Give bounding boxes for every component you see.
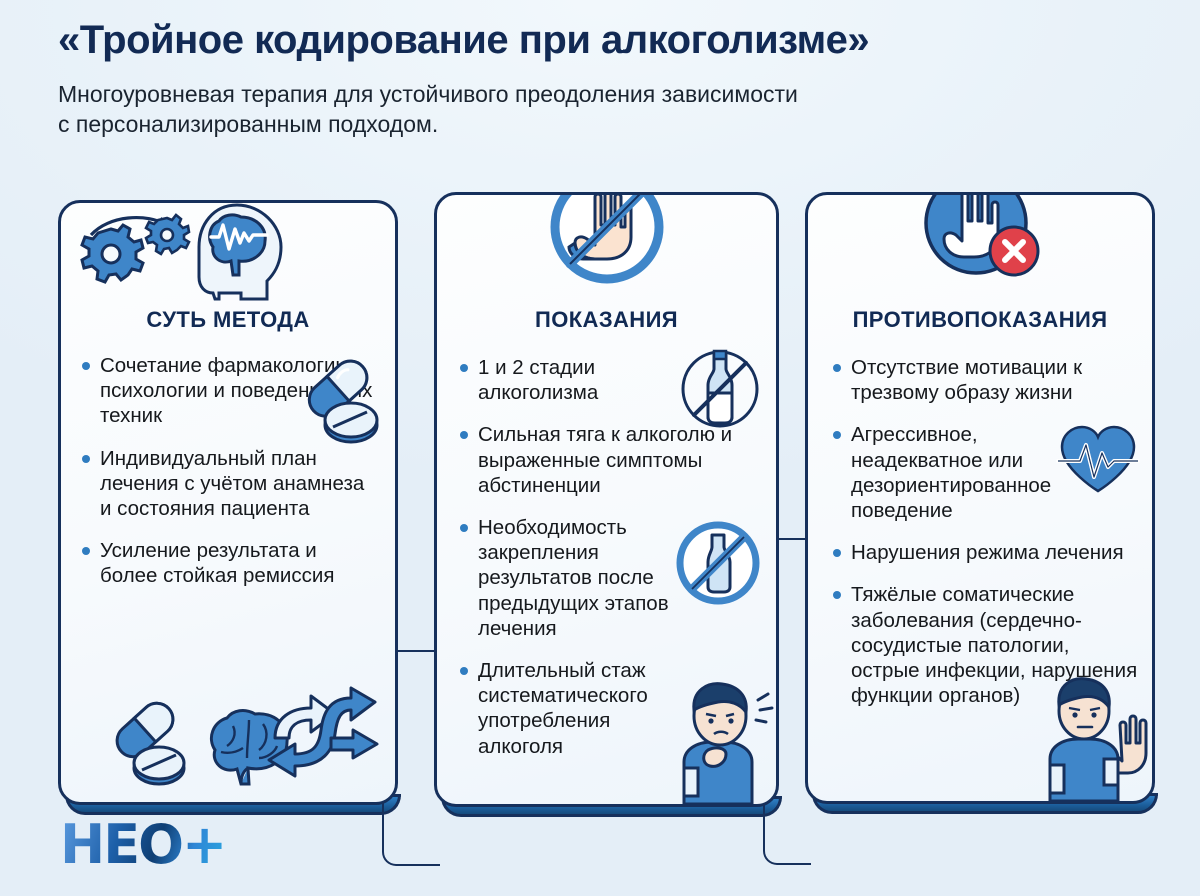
list-item: Агрессивное, неадекватное или дезориенти… [830,422,1076,523]
brand-logo-text: НЕО+ [60,818,225,872]
card-protivopokazaniya[interactable]: ПРОТИВОПОКАЗАНИЯ Отсутствие мотивации к … [805,192,1155,804]
no-alcohol-icon [672,517,764,609]
list-item: Отсутствие мотивации к трезвому образу ж… [830,355,1138,405]
no-bottle-icon [674,343,766,435]
subtitle-line-1: Многоуровневая терапия для устойчивого п… [58,81,798,107]
infographic-root: «Тройное кодирование при алкоголизме» Мн… [0,0,1200,896]
page-title: «Тройное кодирование при алкоголизме» [58,18,1158,63]
stop-hand-prohibited-icon [543,195,671,291]
subtitle-line-2: с персонализированным подходом. [58,109,1158,139]
gears-head-brain-icon [69,203,319,307]
card-pokazaniya[interactable]: ПОКАЗАНИЯ 1 и 2 стадии алкоголизма Сильн… [434,192,779,807]
list-item: Нарушения режима лечения [830,540,1138,565]
list-item: 1 и 2 стадии алкоголизма [457,355,668,405]
list-item: Длительный стаж систематического употреб… [457,658,693,759]
list-item: Индивидуальный план лечения с учётом ана… [79,446,379,522]
card3-bullet-list: Отсутствие мотивации к трезвому образу ж… [830,355,1138,708]
card2-heading: ПОКАЗАНИЯ [437,307,776,333]
cards-row: СУТЬ МЕТОДА Сочетание фармакологии, псих… [0,190,1200,815]
stop-hand-red-x-icon [914,195,1046,291]
stop-man-icon [1034,667,1152,801]
card1-heading: СУТЬ МЕТОДА [61,307,395,333]
list-item: Необходимость закрепления результатов по… [457,515,693,641]
shuffle-arrows-icon [257,684,385,784]
pills-capsule-icon [289,355,389,450]
heartbeat-icon [1056,423,1140,499]
brand-logo: НЕО+ [60,818,225,872]
pills-capsule-icon [99,698,195,790]
card3-heading: ПРОТИВОПОКАЗАНИЯ [808,307,1152,333]
worried-man-icon [662,676,776,804]
header: «Тройное кодирование при алкоголизме» Мн… [58,18,1158,140]
card-suschnost[interactable]: СУТЬ МЕТОДА Сочетание фармакологии, псих… [58,200,398,805]
list-item: Усиление результата и более стойкая реми… [79,538,379,588]
page-subtitle: Многоуровневая терапия для устойчивого п… [58,79,1158,140]
